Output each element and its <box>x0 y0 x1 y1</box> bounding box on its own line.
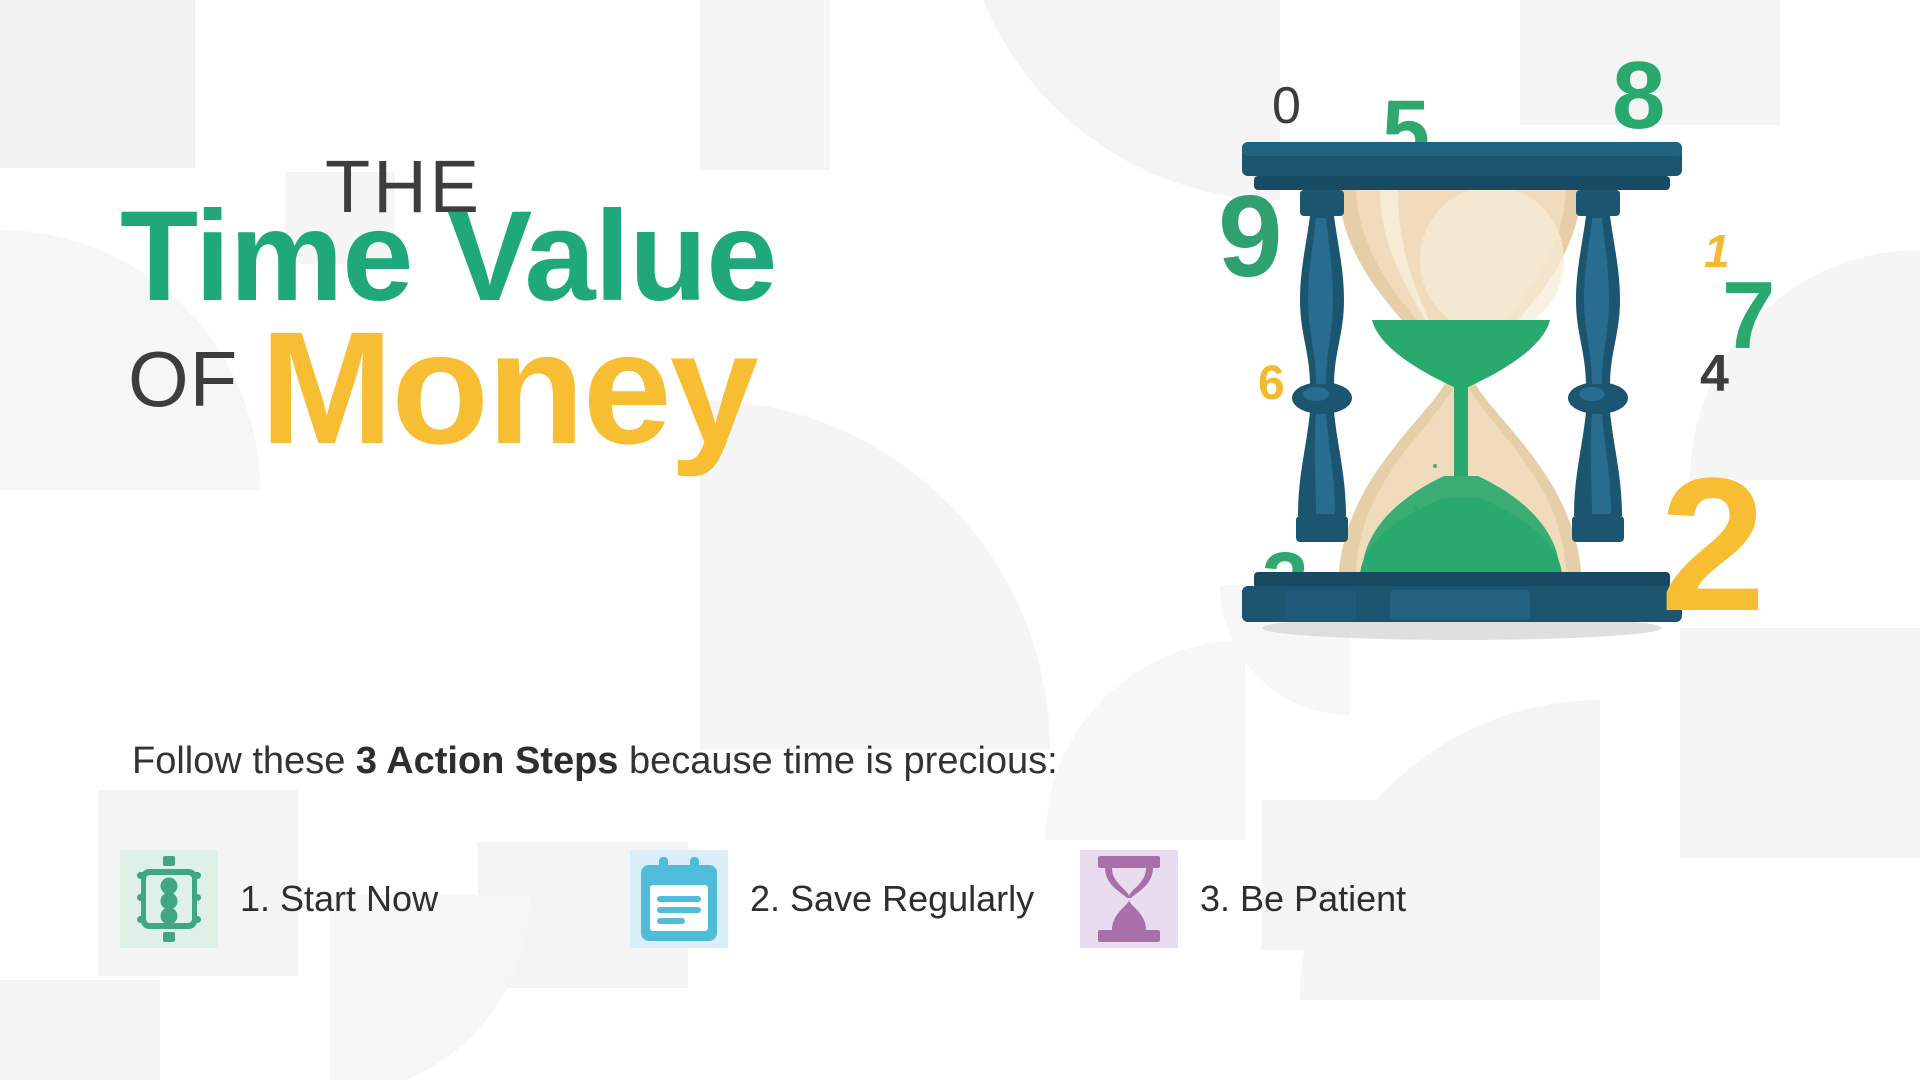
subtitle-line: Follow these 3 Action Steps because time… <box>132 740 1058 783</box>
decor-square <box>0 980 160 1080</box>
subtitle-suffix: because time is precious: <box>618 740 1057 782</box>
action-step-3-label: 3. Be Patient <box>1200 878 1406 920</box>
scattered-number-4: 4 <box>1700 348 1729 400</box>
scattered-number-2: 2 <box>1660 450 1766 640</box>
subtitle-prefix: Follow these <box>132 740 356 782</box>
subtitle-emphasis: 3 Action Steps <box>356 740 619 782</box>
action-steps-row: 1. Start Now <box>120 850 1420 980</box>
hourglass-illustration <box>1230 120 1690 660</box>
hourglass-icon <box>1080 850 1178 948</box>
action-step-2[interactable]: 2. Save Regularly <box>630 850 1034 948</box>
action-step-1-label: 1. Start Now <box>240 878 438 920</box>
action-step-2-label: 2. Save Regularly <box>750 878 1034 920</box>
scattered-number-7: 7 <box>1722 268 1775 364</box>
headline-secondary: Money <box>260 308 757 468</box>
action-step-1[interactable]: 1. Start Now <box>120 850 438 948</box>
headline-connector: OF <box>128 340 238 418</box>
infographic-canvas: THE Time Value OF Money Follow these 3 A… <box>0 0 1920 1080</box>
action-step-3[interactable]: 3. Be Patient <box>1080 850 1406 948</box>
decor-square <box>700 0 830 170</box>
decor-square <box>0 0 195 168</box>
traffic-light-icon <box>120 850 218 948</box>
decor-quarter-circle <box>1045 640 1245 840</box>
decor-square <box>1680 628 1920 858</box>
calendar-note-icon <box>630 850 728 948</box>
